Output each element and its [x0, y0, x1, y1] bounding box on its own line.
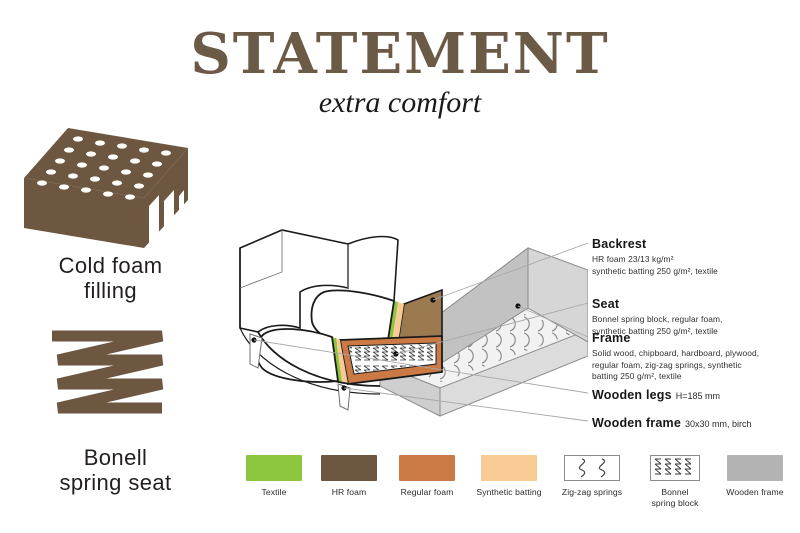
dot-seat [393, 351, 398, 356]
bonell-caption: Bonell spring seat [8, 445, 223, 496]
legend-label: Zig-zag springs [552, 487, 632, 498]
annotation-wooden-frame: Wooden frame30x30 mm, birch [592, 414, 800, 432]
cold-foam-caption: Cold foam filling [8, 253, 213, 304]
dot-wooden-frame [341, 385, 346, 390]
legend-swatch-synthetic-batting [481, 455, 537, 481]
legend-item-regular-foam: Regular foam [390, 455, 464, 498]
legend-label: Regular foam [390, 487, 464, 498]
infographic-canvas: STATEMENT extra comfort [0, 0, 800, 533]
annotation-title: Backrest [592, 237, 646, 251]
annotation-wooden-legs: Wooden legsH=185 mm [592, 386, 797, 404]
legend-item-zigzag-springs: Zig-zag springs [552, 455, 632, 498]
dot-backrest [430, 297, 435, 302]
annotation-frame: Frame Solid wood, chipboard, hardboard, … [592, 329, 797, 383]
legend-swatch-wooden-frame [727, 455, 783, 481]
legend-item-bonnel-spring-block: Bonnel spring block [636, 455, 714, 508]
legend-swatch-hr-foam [321, 455, 377, 481]
legend-label: HR foam [315, 487, 383, 498]
legend-swatch-zigzag-springs [564, 455, 620, 481]
cold-foam-block-icon [12, 122, 198, 254]
legend-label: Wooden frame [710, 487, 800, 498]
legend-label: Textile [240, 487, 308, 498]
legend-label: Synthetic batting [468, 487, 550, 498]
annotation-detail: Solid wood, chipboard, hardboard, plywoo… [592, 348, 797, 383]
dot-wooden-legs [251, 337, 256, 342]
annotation-backrest: Backrest HR foam 23/13 kg/m² synthetic b… [592, 235, 797, 277]
legend-item-synthetic-batting: Synthetic batting [468, 455, 550, 498]
legend-item-wooden-frame: Wooden frame [710, 455, 800, 498]
page-title: STATEMENT [0, 26, 800, 82]
legend-label: Bonnel spring block [636, 487, 714, 508]
sofa-cutaway-illustration [228, 188, 588, 428]
annotation-inline: H=185 mm [676, 391, 720, 401]
legend: Textile HR foam Regular foam Synthetic b… [240, 455, 800, 517]
annotation-detail: HR foam 23/13 kg/m² synthetic batting 25… [592, 254, 797, 277]
annotation-title: Seat [592, 297, 619, 311]
zigzag-spring-icon [44, 330, 184, 426]
legend-item-textile: Textile [240, 455, 308, 498]
annotation-inline: 30x30 mm, birch [685, 419, 752, 429]
dot-frame [515, 303, 520, 308]
annotation-title: Wooden frame [592, 416, 681, 430]
annotation-title: Frame [592, 331, 631, 345]
page-subtitle: extra comfort [0, 88, 800, 118]
annotation-title: Wooden legs [592, 388, 672, 402]
legend-swatch-textile [246, 455, 302, 481]
legend-item-hr-foam: HR foam [315, 455, 383, 498]
legend-swatch-bonnel-spring-block [650, 455, 700, 481]
legend-swatch-regular-foam [399, 455, 455, 481]
